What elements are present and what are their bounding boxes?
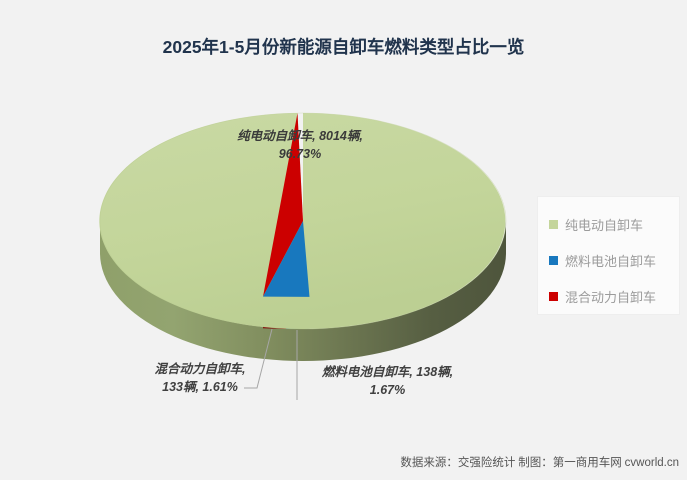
data-label-hybrid: 混合动力自卸车, 133辆, 1.61% [120,360,280,396]
data-label-hybrid-line2: 133辆, 1.61% [120,378,280,396]
legend-swatch-icon-bev [549,220,558,229]
source-note-text: 数据来源：交强险统计 制图：第一商用车网 [400,457,624,469]
source-note-domain: cvworld.cn [625,457,679,469]
data-label-fuelcell: 燃料电池自卸车, 138辆, 1.67% [295,363,480,399]
data-label-bev: 纯电动自卸车, 8014辆, 96.73% [180,127,420,163]
legend-item-hybrid[interactable]: 混合动力自卸车 [549,280,679,313]
data-label-bev-line2: 96.73% [180,145,420,163]
chart-legend: 纯电动自卸车 燃料电池自卸车 混合动力自卸车 [537,196,680,315]
legend-swatch-icon-hybrid [549,292,558,301]
legend-item-bev[interactable]: 纯电动自卸车 [549,208,679,241]
legend-label-hybrid: 混合动力自卸车 [565,287,656,306]
legend-label-fuelcell: 燃料电池自卸车 [565,251,656,270]
chart-container: 2025年1-5月份新能源自卸车燃料类型占比一览 [0,0,687,480]
data-label-fuelcell-line1: 燃料电池自卸车, 138辆, [295,363,480,381]
legend-label-bev: 纯电动自卸车 [565,215,643,234]
legend-swatch-icon-fuelcell [549,256,558,265]
data-label-fuelcell-line2: 1.67% [295,381,480,399]
data-label-hybrid-line1: 混合动力自卸车, [120,360,280,378]
source-note: 数据来源：交强险统计 制图：第一商用车网 cvworld.cn [400,454,679,470]
data-label-bev-line1: 纯电动自卸车, 8014辆, [180,127,420,145]
legend-item-fuelcell[interactable]: 燃料电池自卸车 [549,244,679,277]
